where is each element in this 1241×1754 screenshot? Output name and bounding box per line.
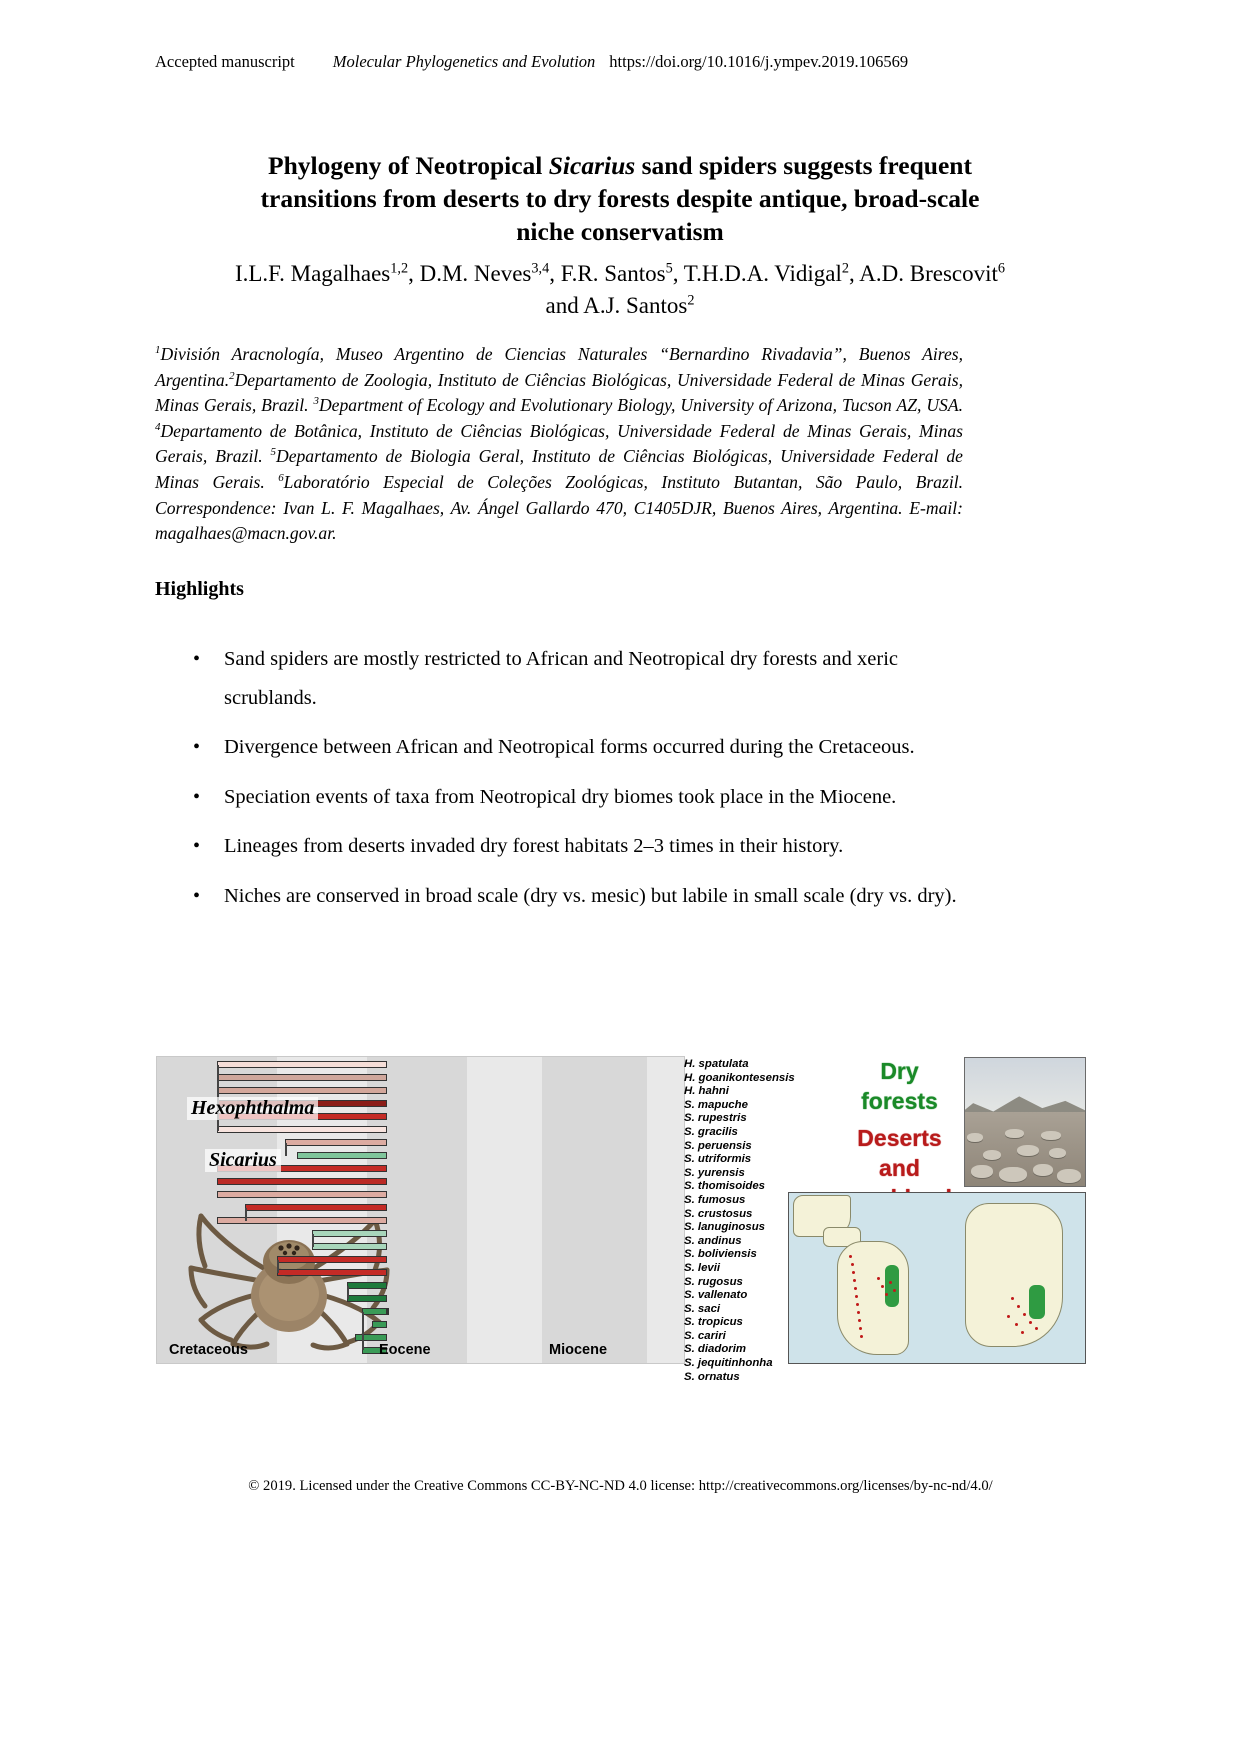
legend-deserts-line1: Deserts and <box>842 1123 957 1183</box>
taxon-label: H. spatulata <box>684 1058 834 1072</box>
accepted-manuscript-label: Accepted manuscript <box>155 52 295 71</box>
branch-terminal <box>347 1282 387 1289</box>
author-5: , A.D. Brescovit <box>849 261 998 286</box>
epoch-label-cretaceous: Cretaceous <box>169 1342 248 1358</box>
bullet-icon: • <box>193 877 200 916</box>
highlight-text: Sand spiders are mostly restricted to Af… <box>224 648 898 709</box>
author-list: I.L.F. Magalhaes1,2, D.M. Neves3,4, F.R.… <box>160 258 1080 322</box>
branch-terminal <box>312 1243 387 1250</box>
highlight-text: Niches are conserved in broad scale (dry… <box>224 885 957 907</box>
title-line-2: transitions from deserts to dry forests … <box>261 184 980 213</box>
branch-terminal <box>372 1321 387 1328</box>
photo-rock <box>1017 1145 1039 1156</box>
photo-rock <box>967 1133 983 1142</box>
legend-dry-forests: Dry forests <box>842 1056 957 1116</box>
taxon-label: H. hahni <box>684 1085 834 1099</box>
branch-connector <box>245 1208 247 1221</box>
branch-terminal <box>312 1230 387 1237</box>
affiliation-3: Department of Ecology and Evolutionary B… <box>319 395 963 415</box>
taxon-label: S. peruensis <box>684 1140 834 1154</box>
branch-connector <box>347 1286 349 1299</box>
photo-rock <box>999 1167 1027 1182</box>
author-6-affil-marker: 2 <box>687 292 694 308</box>
habitat-legend: Dry forests Deserts and scrublands <box>842 1056 957 1196</box>
highlight-text: Speciation events of taxa from Neotropic… <box>224 786 896 808</box>
doi-link[interactable]: https://doi.org/10.1016/j.ympev.2019.106… <box>609 52 908 71</box>
photo-rock <box>971 1165 993 1178</box>
branch-terminal <box>355 1334 387 1341</box>
list-item: •Speciation events of taxa from Neotropi… <box>224 778 984 817</box>
distribution-map <box>788 1192 1086 1364</box>
list-item: •Sand spiders are mostly restricted to A… <box>224 640 984 717</box>
photo-rock <box>1041 1131 1061 1140</box>
branch-terminal <box>217 1087 387 1094</box>
map-landmass-africa <box>965 1203 1063 1347</box>
branch-connector <box>362 1312 364 1350</box>
paper-page: Accepted manuscriptMolecular Phylogeneti… <box>0 0 1241 1754</box>
branch-terminal <box>277 1269 387 1276</box>
desert-habitat-photo <box>964 1057 1086 1187</box>
bullet-icon: • <box>193 640 200 679</box>
author-4-affil-marker: 2 <box>842 260 849 276</box>
author-2-affil-marker: 3,4 <box>531 260 549 276</box>
epoch-band-miocene <box>542 1057 647 1363</box>
highlights-heading: Highlights <box>155 578 244 601</box>
branch-terminal <box>347 1295 387 1302</box>
branch-terminal <box>217 1178 387 1185</box>
epoch-label-eocene: Eocene <box>379 1342 431 1358</box>
bullet-icon: • <box>193 827 200 866</box>
phylogeny-panel: Hexophthalma Sicarius Cretaceous Eocene … <box>156 1056 685 1364</box>
branch-connector <box>312 1234 314 1247</box>
list-item: •Niches are conserved in broad scale (dr… <box>224 877 984 916</box>
branch-terminal <box>297 1152 387 1159</box>
author-5-affil-marker: 6 <box>998 260 1005 276</box>
bullet-icon: • <box>193 778 200 817</box>
clade-label-sicarius: Sicarius <box>205 1149 281 1172</box>
branch-connector <box>285 1143 287 1156</box>
branch-terminal <box>245 1204 387 1211</box>
branch-connector <box>277 1260 279 1273</box>
bullet-icon: • <box>193 728 200 767</box>
title-line-1-part-b: sand spiders suggests frequent <box>635 151 972 180</box>
highlight-text: Lineages from deserts invaded dry forest… <box>224 835 843 857</box>
branch-terminal <box>285 1139 387 1146</box>
running-header: Accepted manuscriptMolecular Phylogeneti… <box>155 52 1095 72</box>
photo-rock <box>1033 1164 1053 1176</box>
author-2: , D.M. Neves <box>408 261 531 286</box>
taxon-label: S. gracilis <box>684 1126 834 1140</box>
page-title: Phylogeny of Neotropical Sicarius sand s… <box>160 149 1080 248</box>
author-4: , T.H.D.A. Vidigal <box>673 261 842 286</box>
affiliations-block: 1División Aracnología, Museo Argentino d… <box>155 342 963 547</box>
highlight-text: Divergence between African and Neotropic… <box>224 736 915 758</box>
author-3-affil-marker: 5 <box>666 260 673 276</box>
author-3: , F.R. Santos <box>549 261 665 286</box>
title-genus-sicarius: Sicarius <box>549 151 635 180</box>
list-item: •Lineages from deserts invaded dry fores… <box>224 827 984 866</box>
clade-label-hexophthalma: Hexophthalma <box>187 1097 318 1120</box>
taxon-label: S. rupestris <box>684 1112 834 1126</box>
epoch-label-miocene: Miocene <box>549 1342 607 1358</box>
graphical-abstract: Hexophthalma Sicarius Cretaceous Eocene … <box>156 1056 1084 1362</box>
branch-terminal <box>217 1061 387 1068</box>
list-item: •Divergence between African and Neotropi… <box>224 728 984 767</box>
map-green-region-africa <box>1029 1285 1045 1319</box>
taxon-label: H. goanikontesensis <box>684 1072 834 1086</box>
license-footer: © 2019. Licensed under the Creative Comm… <box>0 1478 1241 1495</box>
branch-terminal <box>217 1217 387 1224</box>
taxon-label: S. mapuche <box>684 1099 834 1113</box>
branch-terminal <box>217 1191 387 1198</box>
map-green-region-brazil <box>885 1265 899 1307</box>
branch-terminal <box>277 1256 387 1263</box>
highlights-list: •Sand spiders are mostly restricted to A… <box>188 640 984 926</box>
epoch-band-pliocene <box>647 1057 684 1363</box>
title-line-3: niche conservatism <box>516 217 724 246</box>
journal-name: Molecular Phylogenetics and Evolution <box>333 52 596 71</box>
taxon-label: S. utriformis <box>684 1153 834 1167</box>
photo-rock <box>1057 1169 1081 1183</box>
branch-terminal <box>217 1126 387 1133</box>
photo-rock <box>1005 1129 1024 1138</box>
author-1-affil-marker: 1,2 <box>390 260 408 276</box>
taxon-label: S. ornatus <box>684 1371 834 1385</box>
title-line-1-part-a: Phylogeny of Neotropical <box>268 151 549 180</box>
author-6: and A.J. Santos <box>546 293 688 318</box>
photo-rock <box>1049 1148 1066 1158</box>
branch-terminal <box>217 1074 387 1081</box>
author-1: I.L.F. Magalhaes <box>235 261 390 286</box>
taxon-label: S. yurensis <box>684 1167 834 1181</box>
epoch-band-oligocene <box>467 1057 542 1363</box>
photo-rock <box>983 1150 1001 1160</box>
branch-terminal <box>362 1308 387 1315</box>
